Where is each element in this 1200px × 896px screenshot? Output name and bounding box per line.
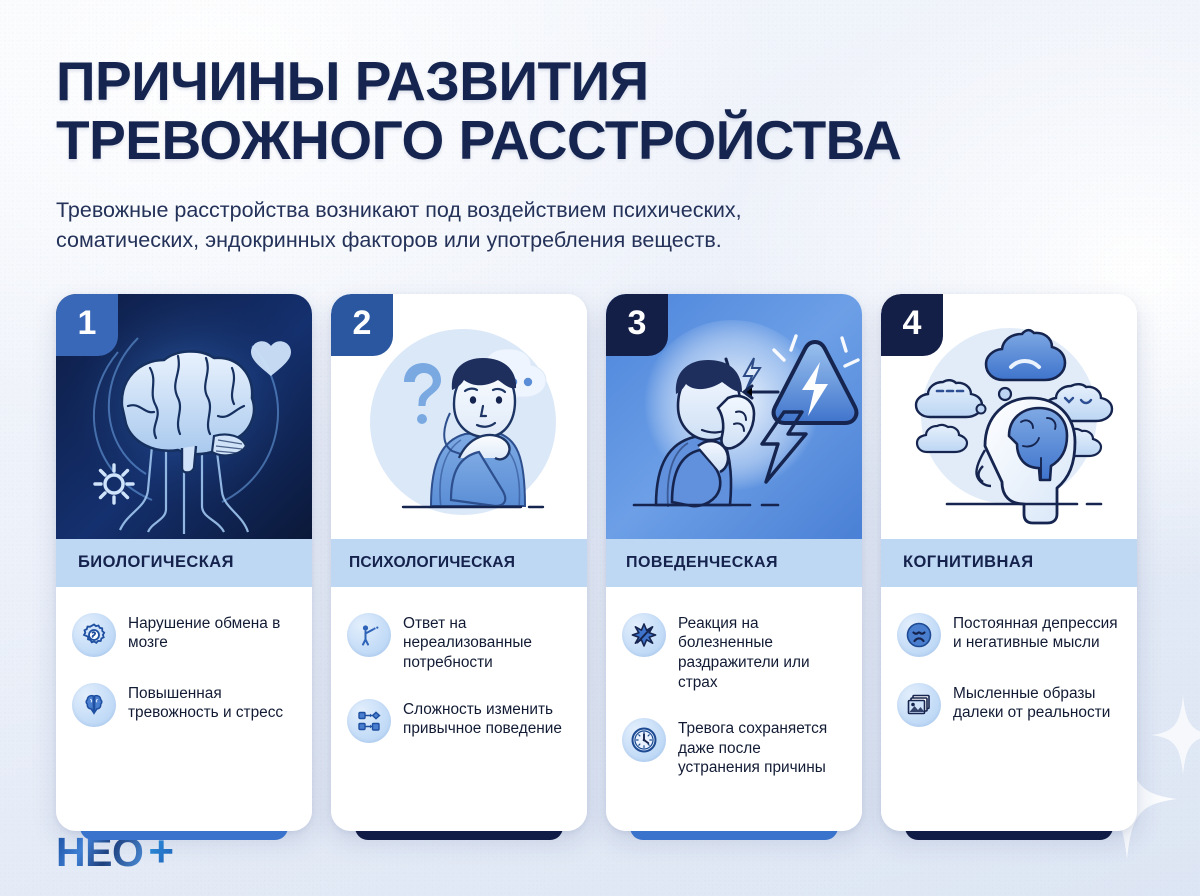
title-line-2: ТРЕВОЖНОГО РАССТРОЙСТВА xyxy=(56,111,1144,170)
card-biological[interactable]: 1 БИОЛОГИЧЕСКАЯ Нарушение обмена xyxy=(56,294,312,831)
list-item: Ответ на нереализованные потребности xyxy=(347,613,571,673)
card-number-badge: 2 xyxy=(331,294,393,356)
sad-face-icon xyxy=(897,613,941,657)
burst-icon xyxy=(622,613,666,657)
clock-icon xyxy=(622,718,666,762)
brain-icon xyxy=(72,683,116,727)
card-number-badge: 4 xyxy=(881,294,943,356)
subtitle-line-1: Тревожные расстройства возникают под воз… xyxy=(56,195,986,226)
list-item-text: Нарушение обмена в мозге xyxy=(128,613,296,653)
card-cognitive[interactable]: 4 КОГНИТИВНАЯ xyxy=(881,294,1137,831)
brain-neural-illustration: 1 xyxy=(56,294,312,539)
head-thought-clouds-illustration: 4 xyxy=(881,294,1137,539)
page-title: ПРИЧИНЫ РАЗВИТИЯ ТРЕВОЖНОГО РАССТРОЙСТВА xyxy=(56,52,1144,171)
card-label: ПОВЕДЕНЧЕСКАЯ xyxy=(606,539,862,587)
person-reaching-icon xyxy=(347,613,391,657)
card-list: Нарушение обмена в мозге xyxy=(56,587,312,727)
card-number: 2 xyxy=(353,306,372,340)
card-psychological[interactable]: 2 ПСИХОЛОГИЧЕСКАЯ xyxy=(331,294,587,831)
gear-brain-icon xyxy=(72,613,116,657)
card-number: 3 xyxy=(628,306,647,340)
flowchart-icon xyxy=(347,699,391,743)
list-item-text: Постоянная депрессия и негативные мысли xyxy=(953,613,1121,653)
list-item-text: Сложность изменить привычное поведение xyxy=(403,699,571,739)
card-list: Ответ на нереализованные потребности xyxy=(331,587,587,743)
card-list: Реакция на болезненные раздражители или … xyxy=(606,587,862,778)
list-item: Мысленные образы далеки от реальности xyxy=(897,683,1121,727)
list-item: Сложность изменить привычное поведение xyxy=(347,699,571,743)
card-label: КОГНИТИВНАЯ xyxy=(881,539,1137,587)
card-number-badge: 3 xyxy=(606,294,668,356)
list-item-text: Ответ на нереализованные потребности xyxy=(403,613,571,673)
page-subtitle: Тревожные расстройства возникают под воз… xyxy=(56,195,986,256)
card-number-badge: 1 xyxy=(56,294,118,356)
card-behavioral[interactable]: 3 ПОВЕДЕНЧЕСКАЯ Реакция на болезненные р… xyxy=(606,294,862,831)
infographic-page: ПРИЧИНЫ РАЗВИТИЯ ТРЕВОЖНОГО РАССТРОЙСТВА… xyxy=(0,0,1200,896)
card-list: Постоянная депрессия и негативные мысли xyxy=(881,587,1137,727)
list-item: Нарушение обмена в мозге xyxy=(72,613,296,657)
subtitle-line-2: соматических, эндокринных факторов или у… xyxy=(56,225,986,256)
thinking-man-illustration: 2 xyxy=(331,294,587,539)
cards-row: 1 БИОЛОГИЧЕСКАЯ Нарушение обмена xyxy=(56,294,1144,831)
list-item-text: Мысленные образы далеки от реальности xyxy=(953,683,1121,723)
title-line-1: ПРИЧИНЫ РАЗВИТИЯ xyxy=(56,52,1144,111)
list-item: Повышенная тревожность и стресс xyxy=(72,683,296,727)
list-item-text: Повышенная тревожность и стресс xyxy=(128,683,296,723)
card-label: БИОЛОГИЧЕСКАЯ xyxy=(56,539,312,587)
list-item: Реакция на болезненные раздражители или … xyxy=(622,613,846,692)
card-number: 1 xyxy=(78,306,97,340)
list-item: Постоянная депрессия и негативные мысли xyxy=(897,613,1121,657)
card-label: ПСИХОЛОГИЧЕСКАЯ xyxy=(331,539,587,587)
photos-icon xyxy=(897,683,941,727)
card-number: 4 xyxy=(903,306,922,340)
list-item: Тревога сохраняется даже после устранени… xyxy=(622,718,846,778)
list-item-text: Тревога сохраняется даже после устранени… xyxy=(678,718,846,778)
list-item-text: Реакция на болезненные раздражители или … xyxy=(678,613,846,692)
man-covering-ears-warning-illustration: 3 xyxy=(606,294,862,539)
